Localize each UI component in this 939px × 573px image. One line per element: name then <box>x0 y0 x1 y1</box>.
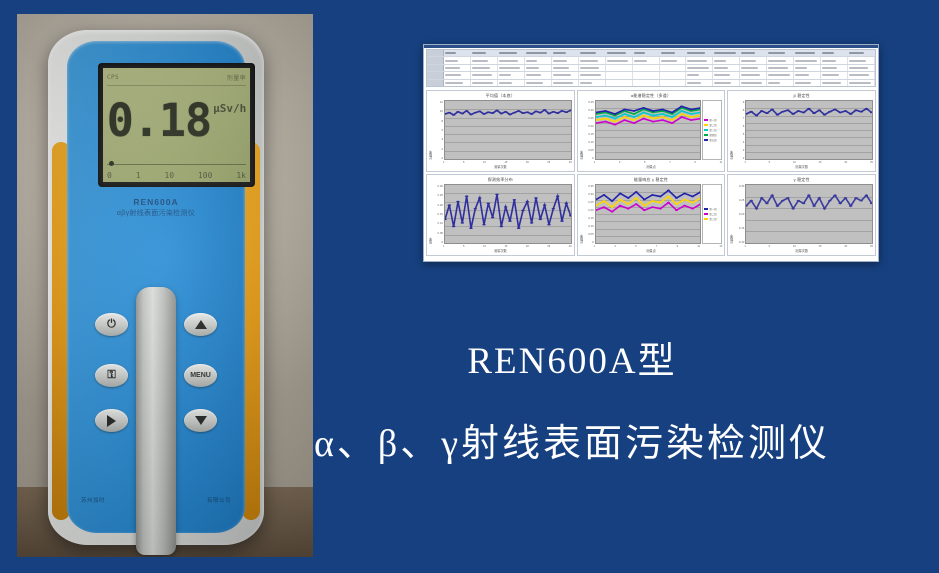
chart-data-point <box>651 206 654 208</box>
chart-data-point <box>675 203 678 205</box>
chart-data-point <box>683 199 686 201</box>
table-cell-text <box>445 67 460 69</box>
table-cell <box>525 80 552 86</box>
lcd-status-left: CPS <box>107 74 119 81</box>
chart-data-point <box>670 112 673 114</box>
chart-data-point <box>689 119 692 121</box>
software-screenshot-panel: 平均值（本底）计数率121086420151015202530测量次数α能谱稳定… <box>423 44 879 262</box>
chart-data-point <box>448 204 452 206</box>
chart-legend-swatch <box>704 139 708 141</box>
chart-data-point <box>813 205 817 207</box>
chart-data-point <box>495 194 499 196</box>
chart-legend: 第一组第二组第三组第四组第五组 <box>702 100 722 160</box>
table-cell <box>606 72 633 78</box>
table-cell <box>525 65 552 71</box>
chart-data-point <box>865 195 869 197</box>
chart-data-point <box>526 201 530 203</box>
table-cell <box>686 72 713 78</box>
chart-data-point <box>642 209 645 211</box>
table-cell-text <box>661 60 677 62</box>
table-cell <box>848 65 875 71</box>
chart-data-point <box>534 111 538 113</box>
chart-data-point <box>802 203 806 205</box>
chart-legend-swatch <box>704 213 708 215</box>
chart-y-axis-label: 计数率 <box>579 100 584 160</box>
chart-title: α能谱稳定性（多道） <box>578 93 725 99</box>
chart-data-point <box>675 197 678 199</box>
chart-x-axis-label: 测量点 <box>578 164 725 169</box>
device-brand-right: 有限公司 <box>207 496 231 504</box>
lcd-scale-tick: 10 <box>164 171 174 180</box>
chart-data-point <box>642 107 645 109</box>
lcd-display: CPS 剂量率 0.18 μSv/h 0 1 <box>103 68 250 182</box>
chart-data-point <box>504 206 508 208</box>
chart-data-point <box>602 200 605 202</box>
table-cell-text <box>526 60 537 62</box>
table-cell <box>525 57 552 63</box>
chart-y-tick: 0.05 <box>588 232 593 236</box>
chart-card[interactable]: 能量响应 γ 稳定性计数率0.350.300.250.200.150.100.0… <box>577 174 726 256</box>
chart-y-tick: 0.20 <box>588 124 593 128</box>
device-model-name: REN600A <box>67 197 245 207</box>
table-cell-text <box>741 52 754 54</box>
chart-y-tick: 0.15 <box>588 132 593 136</box>
chart-data-point <box>487 203 491 205</box>
chart-y-tick: 0.25 <box>438 193 443 197</box>
chart-card[interactable]: 探测效率分布效率0.300.250.200.150.100.0501510152… <box>426 174 575 256</box>
headline-line-2: α、β、γ射线表面污染检测仪 <box>0 412 939 467</box>
chart-data-point <box>651 194 654 196</box>
chart-legend-swatch <box>704 129 708 131</box>
chart-data-point <box>504 111 508 113</box>
chart-y-tick: 6 <box>743 124 745 128</box>
chart-data-point <box>487 111 491 113</box>
chart-data-point <box>776 205 780 207</box>
chart-data-point <box>634 191 637 193</box>
table-cell-text <box>499 82 512 84</box>
table-cell-text <box>768 60 786 62</box>
chart-y-axis-label: 计数率 <box>428 100 433 160</box>
chart-data-point <box>689 110 692 112</box>
chart-data-point <box>818 197 822 199</box>
table-cell-text <box>580 67 600 69</box>
chart-data-point <box>680 106 683 108</box>
chart-data-point <box>781 200 785 202</box>
chart-y-tick: 3 <box>743 148 745 152</box>
chart-data-point <box>844 110 848 112</box>
table-cell <box>471 80 498 86</box>
chart-y-tick: 0.30 <box>588 108 593 112</box>
chart-data-point <box>547 224 551 226</box>
chart-data-point <box>651 121 654 123</box>
chart-y-ticks: 0.300.250.200.150.100.050 <box>433 184 444 244</box>
table-cell-text <box>553 60 568 62</box>
chart-data-point <box>500 113 504 115</box>
chart-data-point <box>797 200 801 202</box>
table-cell <box>660 65 687 71</box>
table-cell <box>579 65 606 71</box>
chart-data-point <box>495 110 499 112</box>
chart-data-point <box>445 219 447 221</box>
chart-card[interactable]: α能谱稳定性（多道）计数率0.350.300.250.200.150.100.0… <box>577 90 726 172</box>
table-cell-text <box>768 67 788 69</box>
chart-data-point <box>755 208 759 210</box>
table-cell-text <box>741 60 756 62</box>
table-cell-text <box>849 74 869 76</box>
chart-plot-area <box>745 100 873 160</box>
lcd-reading: 0.18 μSv/h <box>103 86 250 154</box>
chart-data-point <box>691 208 694 210</box>
chart-data-point <box>828 111 832 113</box>
chart-data-point <box>613 113 616 115</box>
chart-data-point <box>632 119 635 121</box>
table-cell <box>633 50 660 56</box>
table-cell <box>579 50 606 56</box>
table-cell <box>444 72 471 78</box>
chart-y-tick: 4 <box>743 140 745 144</box>
chart-data-point <box>670 113 673 115</box>
chart-y-ticks: 0.300.250.200.150.10 <box>734 184 745 244</box>
chart-y-tick: 5 <box>743 132 745 136</box>
chart-legend-swatch <box>704 134 708 136</box>
table-cell <box>767 65 794 71</box>
table-cell <box>821 50 848 56</box>
chart-legend-swatch <box>704 218 708 220</box>
table-cell <box>444 57 471 63</box>
table-cell-text <box>472 60 488 62</box>
chart-data-point <box>642 115 645 117</box>
table-cell <box>713 50 740 56</box>
chart-data-point <box>526 111 530 113</box>
table-cell-text <box>714 52 735 54</box>
chart-series-svg <box>746 101 872 159</box>
lcd-scale: 0 1 10 100 1k <box>107 169 246 181</box>
chart-data-point <box>465 195 469 197</box>
table-cell-text <box>795 52 815 54</box>
chart-series-line <box>596 106 701 114</box>
table-cell-text <box>849 82 871 84</box>
chart-plot-area <box>444 184 572 244</box>
chart-data-point <box>860 111 864 113</box>
chart-data-point <box>452 114 456 116</box>
table-cell-text <box>795 60 816 62</box>
chart-data-point <box>786 109 790 111</box>
chart-series-line <box>746 195 872 208</box>
table-cell <box>848 57 875 63</box>
table-cell <box>713 80 740 86</box>
chart-y-ticks: 121086420 <box>433 100 444 160</box>
table-cell-text <box>445 60 458 62</box>
chart-data-point <box>552 208 556 210</box>
chart-y-tick: 8 <box>743 108 745 112</box>
chart-data-point <box>565 203 569 205</box>
lcd-status-right: 剂量率 <box>227 73 246 82</box>
table-header-row <box>427 50 875 57</box>
table-cell <box>713 65 740 71</box>
table-cell-text <box>445 52 456 54</box>
table-cell-text <box>472 67 490 69</box>
chart-data-point <box>521 210 525 212</box>
chart-data-point <box>689 109 692 111</box>
chart-y-axis-label: 计数率 <box>729 100 734 160</box>
chart-x-axis-label: 测量次数 <box>427 248 574 253</box>
table-cell <box>525 72 552 78</box>
chart-y-tick: 0.10 <box>739 240 744 244</box>
chart-data-point <box>870 203 872 205</box>
table-cell <box>606 57 633 63</box>
chart-series-line <box>746 109 872 116</box>
chart-data-point <box>680 113 683 115</box>
chart-legend-item: 第三组 <box>704 217 720 221</box>
lcd-bargraph-marker <box>109 161 114 166</box>
table-cell <box>740 72 767 78</box>
chart-data-point <box>491 112 495 114</box>
table-row-header <box>427 57 444 63</box>
chart-data-point <box>482 224 486 226</box>
chart-y-tick: 0.10 <box>438 221 443 225</box>
lcd-bargraph <box>107 162 246 168</box>
chart-title: β 稳定性 <box>728 93 875 99</box>
chart-y-axis-label: 效率 <box>428 184 433 244</box>
chart-y-axis-label: 计数率 <box>729 184 734 244</box>
chart-data-point <box>807 108 811 110</box>
chart-card[interactable]: 平均值（本底）计数率121086420151015202530测量次数 <box>426 90 575 172</box>
chart-data-point <box>560 220 564 222</box>
chart-data-point <box>670 116 673 118</box>
chart-data-point <box>482 113 486 115</box>
chart-legend-item: 第二组 <box>704 123 720 127</box>
chart-data-point <box>683 205 686 207</box>
table-cell-text <box>687 67 708 69</box>
table-cell <box>471 50 498 56</box>
chart-data-point <box>613 115 616 117</box>
chart-series-svg <box>445 101 571 159</box>
chart-data-point <box>755 115 759 117</box>
table-cell-text <box>526 52 547 54</box>
table-cell <box>740 50 767 56</box>
chart-data-point <box>661 116 664 118</box>
chart-legend-item: 第一组 <box>704 118 720 122</box>
chart-title: 探测效率分布 <box>427 177 574 183</box>
chart-y-tick: 0 <box>441 240 443 244</box>
chart-card[interactable]: β 稳定性计数率987654321510152025测量次数 <box>727 90 876 172</box>
chart-data-point <box>547 113 551 115</box>
chart-data-point <box>618 205 621 207</box>
chart-data-point <box>691 202 694 204</box>
table-cell <box>686 57 713 63</box>
lcd-unit: μSv/h <box>213 102 246 115</box>
table-cell-text <box>714 74 729 76</box>
chart-legend-label: 第四组 <box>709 133 716 137</box>
table-cell-text <box>661 52 676 54</box>
chart-series-svg <box>596 185 701 243</box>
table-cell <box>848 72 875 78</box>
table-cell <box>686 80 713 86</box>
chart-data-point <box>632 113 635 115</box>
table-cell-text <box>607 52 626 54</box>
device-brand-row: 苏州加时 有限公司 <box>81 496 231 504</box>
chart-data-point <box>675 209 678 211</box>
chart-data-point <box>465 110 469 112</box>
table-cell <box>498 65 525 71</box>
device-brand-left: 苏州加时 <box>81 496 105 504</box>
chart-data-point <box>610 200 613 202</box>
chart-data-point <box>651 110 654 112</box>
chart-plot-area <box>444 100 572 160</box>
table-cell <box>740 57 767 63</box>
chart-y-tick: 0.05 <box>588 148 593 152</box>
chart-data-point <box>602 206 605 208</box>
table-cell <box>713 72 740 78</box>
chart-data-point <box>760 110 764 112</box>
chart-data-point <box>560 110 564 112</box>
table-cell <box>498 50 525 56</box>
chart-data-point <box>834 109 838 111</box>
chart-data-point <box>642 112 645 114</box>
chart-legend-item: 第五组 <box>704 138 720 142</box>
chart-data-point <box>828 200 832 202</box>
chart-legend-label: 第一组 <box>709 118 716 122</box>
table-row <box>427 57 875 64</box>
table-cell <box>821 57 848 63</box>
chart-data-point <box>474 208 478 210</box>
lcd-bargraph-track <box>107 164 246 168</box>
table-cell <box>498 72 525 78</box>
chart-y-tick: 0.30 <box>739 184 744 188</box>
chart-data-point <box>661 113 664 115</box>
radiation-detector-device: CPS 剂量率 0.18 μSv/h 0 1 <box>48 30 264 545</box>
chart-data-point <box>651 200 654 202</box>
chart-data-point <box>849 113 853 115</box>
chart-data-point <box>771 109 775 111</box>
chart-plot-area <box>595 184 702 244</box>
chart-y-axis-label: 计数率 <box>579 184 584 244</box>
device-model-label: REN600A αβγ射线表面污染检测仪 <box>67 197 245 218</box>
table-cell-text <box>687 52 705 54</box>
chart-data-point <box>632 110 635 112</box>
table-cell-text <box>634 52 645 54</box>
chart-data-point <box>683 193 686 195</box>
chart-body: 计数率0.300.250.200.150.10 <box>728 184 875 244</box>
chart-legend-item: 第二组 <box>704 212 720 216</box>
chart-data-point <box>839 203 843 205</box>
chart-data-point <box>771 195 775 197</box>
chart-data-point <box>823 208 827 210</box>
chart-data-point <box>670 119 673 121</box>
chart-data-point <box>849 205 853 207</box>
chart-y-tick: 0.20 <box>438 203 443 207</box>
chart-title: 平均值（本底） <box>427 93 574 99</box>
table-cell <box>767 50 794 56</box>
chart-card[interactable]: γ 稳定性计数率0.300.250.200.150.101510152025测量… <box>727 174 876 256</box>
chart-y-tick: 0.15 <box>438 212 443 216</box>
chart-data-point <box>691 196 694 198</box>
chart-data-point <box>543 109 547 111</box>
table-cell <box>471 57 498 63</box>
table-cell-text <box>526 82 543 84</box>
chart-data-point <box>543 204 547 206</box>
chart-body: 计数率0.350.300.250.200.150.100.050第一组第二组第三… <box>578 184 725 244</box>
table-cell <box>552 65 579 71</box>
table-cell-text <box>526 74 541 76</box>
chart-data-point <box>604 110 607 112</box>
table-cell-text <box>553 67 569 69</box>
chart-data-point <box>670 122 673 124</box>
table-cell <box>444 50 471 56</box>
table-cell <box>660 50 687 56</box>
chart-y-tick: 8 <box>441 119 443 123</box>
chart-data-point <box>632 116 635 118</box>
chart-data-point <box>610 206 613 208</box>
chart-data-point <box>613 124 616 126</box>
chart-data-point <box>626 197 629 199</box>
chart-data-point <box>618 193 621 195</box>
chart-data-point <box>792 208 796 210</box>
table-cell <box>713 57 740 63</box>
table-cell-text <box>553 82 573 84</box>
chart-legend-label: 第一组 <box>709 207 716 211</box>
chart-data-point <box>865 108 869 110</box>
table-cell <box>767 72 794 78</box>
table-cell-text <box>795 82 810 84</box>
table-cell <box>767 57 794 63</box>
chart-y-tick: 0 <box>441 156 443 160</box>
table-cell-text <box>714 60 726 62</box>
chart-data-point <box>461 113 465 115</box>
table-cell-text <box>741 82 761 84</box>
chart-data-point <box>530 113 534 115</box>
table-cell-text <box>472 52 486 54</box>
table-cell <box>552 50 579 56</box>
chart-data-point <box>807 195 811 197</box>
chart-y-tick: 2 <box>743 156 745 160</box>
chart-data-point <box>517 110 521 112</box>
chart-y-tick: 0.10 <box>588 140 593 144</box>
chart-data-point <box>797 110 801 112</box>
table-cell-text <box>714 67 727 69</box>
table-cell <box>606 65 633 71</box>
table-row-header <box>427 65 444 71</box>
chart-legend-label: 第二组 <box>709 123 716 127</box>
table-cell-text <box>499 67 520 69</box>
chart-data-point <box>604 118 607 120</box>
table-cell-text <box>822 74 839 76</box>
chart-data-point <box>661 119 664 121</box>
chart-y-tick: 6 <box>441 128 443 132</box>
table-cell-text <box>795 74 809 76</box>
chart-y-tick: 0.25 <box>739 198 744 202</box>
chart-data-point <box>513 199 517 201</box>
chart-data-point <box>478 111 482 113</box>
chart-y-tick: 0.30 <box>588 192 593 196</box>
chart-title: 能量响应 γ 稳定性 <box>578 177 725 183</box>
chart-legend-swatch <box>704 124 708 126</box>
chart-x-axis-label: 测量次数 <box>728 164 875 169</box>
chart-data-point <box>651 112 654 114</box>
chart-data-point <box>604 121 607 123</box>
product-photo: CPS 剂量率 0.18 μSv/h 0 1 <box>17 14 313 557</box>
table-cell <box>740 65 767 71</box>
chart-y-tick: 4 <box>441 137 443 141</box>
lcd-scale-tick: 0 <box>107 171 112 180</box>
table-cell-text <box>768 52 784 54</box>
table-cell <box>686 65 713 71</box>
table-cell-text <box>714 82 731 84</box>
chart-body: 计数率0.350.300.250.200.150.100.050第一组第二组第三… <box>578 100 725 160</box>
chart-legend-swatch <box>704 119 708 121</box>
chart-data-point <box>474 112 478 114</box>
table-cell <box>471 72 498 78</box>
